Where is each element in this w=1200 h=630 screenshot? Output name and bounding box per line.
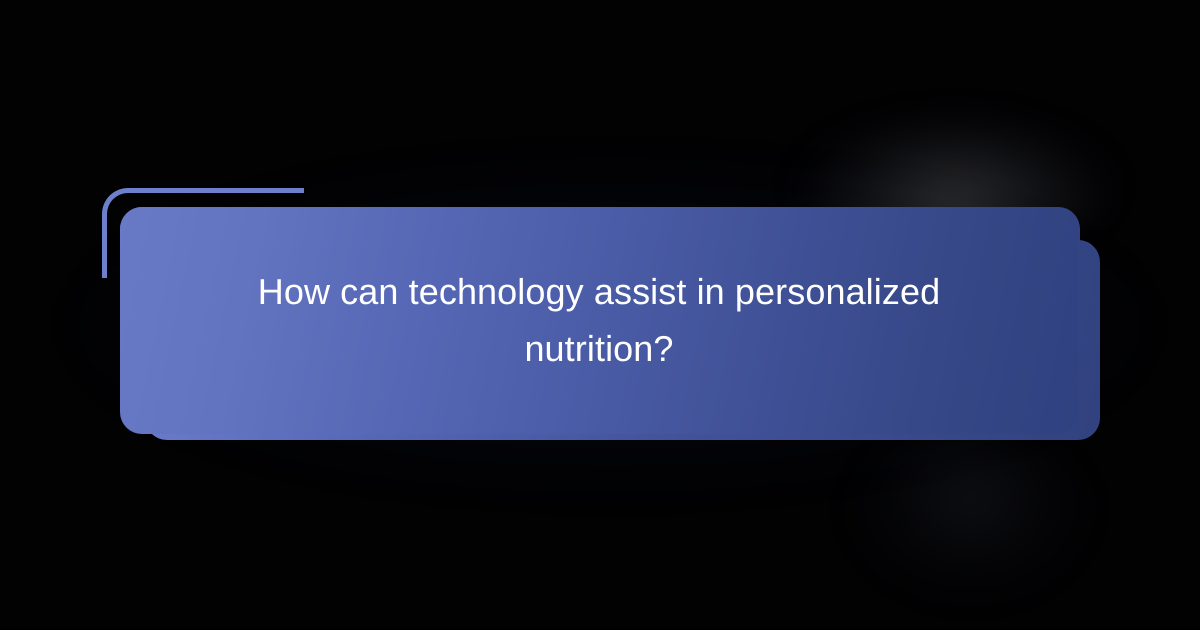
question-card-group: How can technology assist in personalize… (0, 0, 1200, 630)
card-main-face: How can technology assist in personalize… (120, 207, 1078, 434)
social-card-canvas: How can technology assist in personalize… (0, 0, 1200, 630)
card-headline: How can technology assist in personalize… (195, 264, 1003, 376)
